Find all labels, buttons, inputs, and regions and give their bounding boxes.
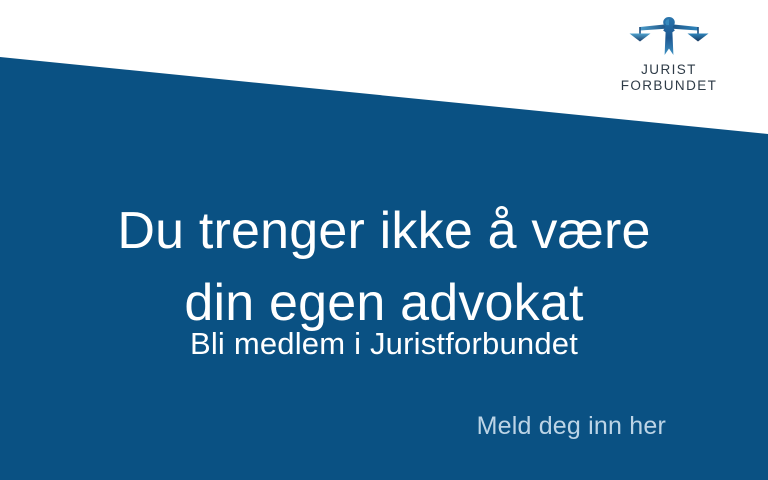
logo-word-jurist: JURIST <box>621 62 718 78</box>
headline-line-1: Du trenger ikke å være <box>0 195 768 267</box>
subheadline: Bli medlem i Juristforbundet <box>0 326 768 362</box>
promotional-banner: JURIST FORBUNDET Du trenger ikke å være … <box>0 0 768 480</box>
signup-cta-link[interactable]: Meld deg inn her <box>477 412 666 441</box>
headline: Du trenger ikke å være din egen advokat <box>0 195 768 339</box>
scales-of-justice-icon <box>628 14 710 56</box>
juristforbundet-logo[interactable]: JURIST FORBUNDET <box>614 14 724 94</box>
logo-word-forbundet: FORBUNDET <box>621 78 718 94</box>
logo-wordmark: JURIST FORBUNDET <box>621 62 718 94</box>
